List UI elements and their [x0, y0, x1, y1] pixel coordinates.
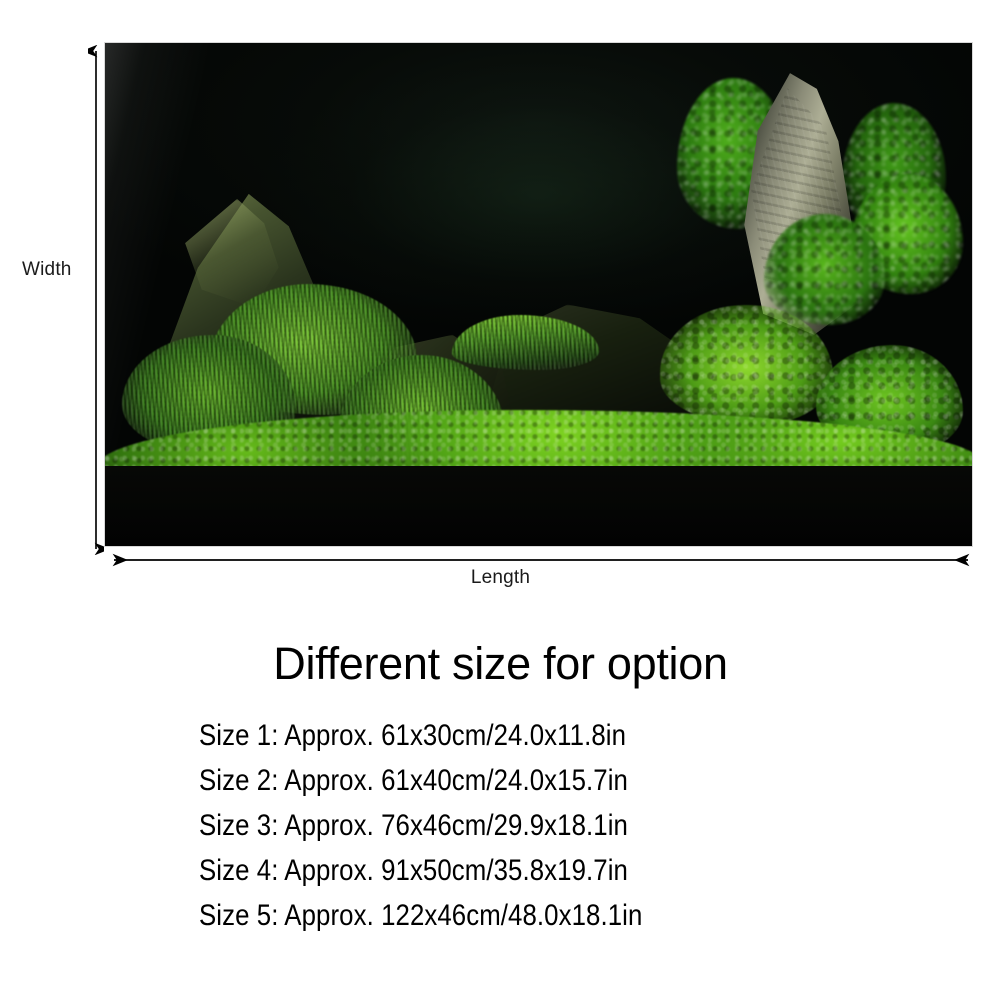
sizes-heading: Different size for option	[0, 638, 1001, 690]
width-label: Width	[22, 259, 72, 281]
length-dimension-arrow	[108, 552, 974, 568]
size-options-list: Size 1: Approx. 61x30cm/24.0x11.8in Size…	[199, 713, 839, 938]
size-option-1: Size 1: Approx. 61x30cm/24.0x11.8in	[199, 713, 749, 758]
substrate-gravel	[105, 466, 972, 546]
size-option-3: Size 3: Approx. 76x46cm/29.9x18.1in	[199, 803, 749, 848]
size-option-5: Size 5: Approx. 122x46cm/48.0x18.1in	[199, 893, 749, 938]
size-option-4: Size 4: Approx. 91x50cm/35.8x19.7in	[199, 848, 749, 893]
length-label: Length	[0, 567, 1001, 589]
aquarium-scene	[105, 43, 972, 546]
size-option-2: Size 2: Approx. 61x40cm/24.0x15.7in	[199, 758, 749, 803]
product-photo	[105, 43, 972, 546]
width-dimension-arrow	[88, 45, 104, 555]
